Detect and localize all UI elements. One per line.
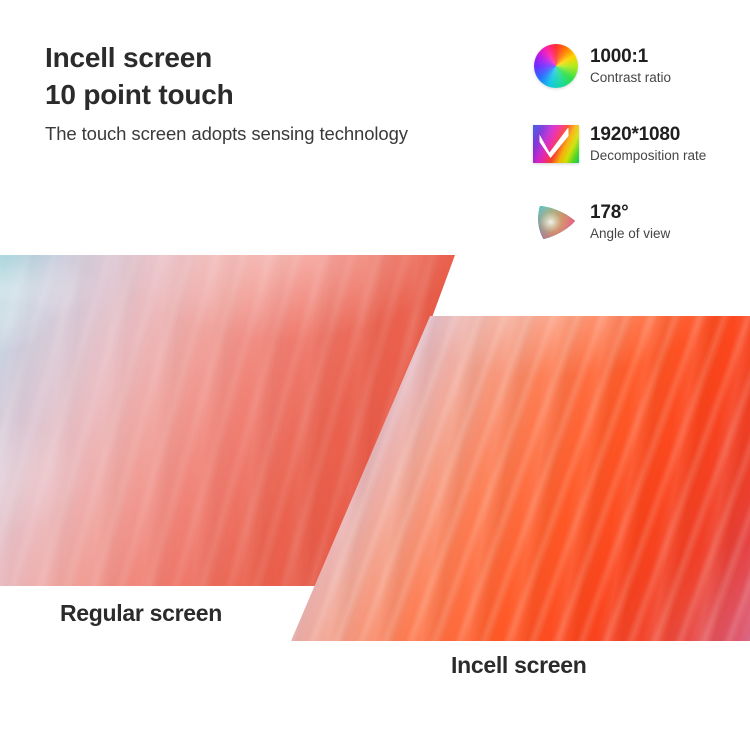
spec-value: 1920*1080 bbox=[590, 124, 706, 145]
spec-item-angle-of-view: 178° Angle of view bbox=[532, 196, 750, 248]
headings-block: Incell screen 10 point touch The touch s… bbox=[45, 40, 515, 145]
spec-label: Decomposition rate bbox=[590, 147, 706, 165]
color-gamut-icon bbox=[532, 198, 580, 246]
spec-label: Contrast ratio bbox=[590, 69, 671, 87]
caption-regular-screen: Regular screen bbox=[60, 600, 222, 627]
spec-value: 1000:1 bbox=[590, 46, 671, 67]
spec-text-group: 178° Angle of view bbox=[590, 202, 670, 243]
page-title-line-2: 10 point touch bbox=[45, 77, 515, 114]
spec-item-contrast-ratio: 1000:1 Contrast ratio bbox=[532, 40, 750, 92]
page-subtitle: The touch screen adopts sensing technolo… bbox=[45, 123, 515, 145]
rainbow-check-square-icon bbox=[532, 120, 580, 168]
spec-label: Angle of view bbox=[590, 225, 670, 243]
caption-incell-screen: Incell screen bbox=[451, 652, 586, 679]
spec-text-group: 1920*1080 Decomposition rate bbox=[590, 124, 706, 165]
spec-item-decomposition-rate: 1920*1080 Decomposition rate bbox=[532, 118, 750, 170]
product-feature-page: Incell screen 10 point touch The touch s… bbox=[0, 0, 750, 750]
spec-value: 178° bbox=[590, 202, 670, 223]
color-wheel-icon bbox=[532, 42, 580, 90]
spec-text-group: 1000:1 Contrast ratio bbox=[590, 46, 671, 87]
spec-list: 1000:1 Contrast ratio 1920*1080 Decompos… bbox=[532, 40, 750, 274]
page-title-line-1: Incell screen bbox=[45, 40, 515, 77]
